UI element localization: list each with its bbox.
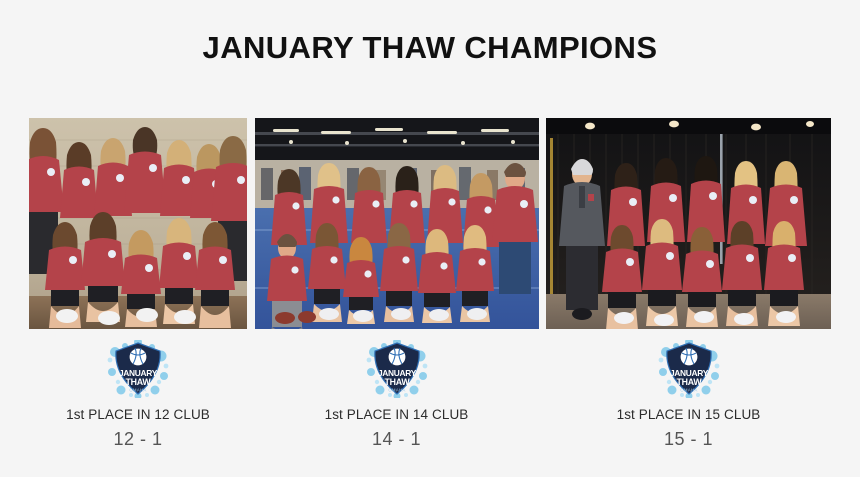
placement-caption: 1st PLACE IN 14 CLUB — [325, 407, 469, 424]
january-thaw-omaha-logo: JANUARY THAW OMAHA — [366, 340, 428, 398]
january-thaw-omaha-logo: JANUARY THAW OMAHA — [658, 340, 720, 398]
svg-text:THAW: THAW — [676, 377, 702, 387]
champion-card: JANUARY THAW OMAHA 1st PLACE IN 14 CLUB … — [255, 118, 539, 450]
svg-text:OMAHA: OMAHA — [388, 388, 405, 393]
record-score: 12 - 1 — [113, 429, 162, 450]
svg-text:THAW: THAW — [125, 377, 151, 387]
svg-text:THAW: THAW — [384, 377, 410, 387]
page-title: JANUARY THAW CHAMPIONS — [0, 30, 860, 66]
svg-text:OMAHA: OMAHA — [129, 388, 146, 393]
champions-card-row: JANUARY THAW OMAHA 1st PLACE IN 12 CLUB … — [29, 118, 831, 450]
champion-card: JANUARY THAW OMAHA 1st PLACE IN 12 CLUB … — [29, 118, 247, 450]
team-photo-12-club — [29, 118, 247, 329]
team-photo-15-club — [546, 118, 831, 329]
placement-caption: 1st PLACE IN 12 CLUB — [66, 407, 210, 424]
record-score: 15 - 1 — [664, 429, 713, 450]
svg-text:OMAHA: OMAHA — [680, 388, 697, 393]
january-thaw-omaha-logo: JANUARY THAW OMAHA — [107, 340, 169, 398]
record-score: 14 - 1 — [372, 429, 421, 450]
placement-caption: 1st PLACE IN 15 CLUB — [617, 407, 761, 424]
champions-poster: JANUARY THAW CHAMPIONS — [0, 0, 860, 477]
team-photo-14-club — [255, 118, 539, 329]
champion-card: JANUARY THAW OMAHA 1st PLACE IN 15 CLUB … — [546, 118, 831, 450]
